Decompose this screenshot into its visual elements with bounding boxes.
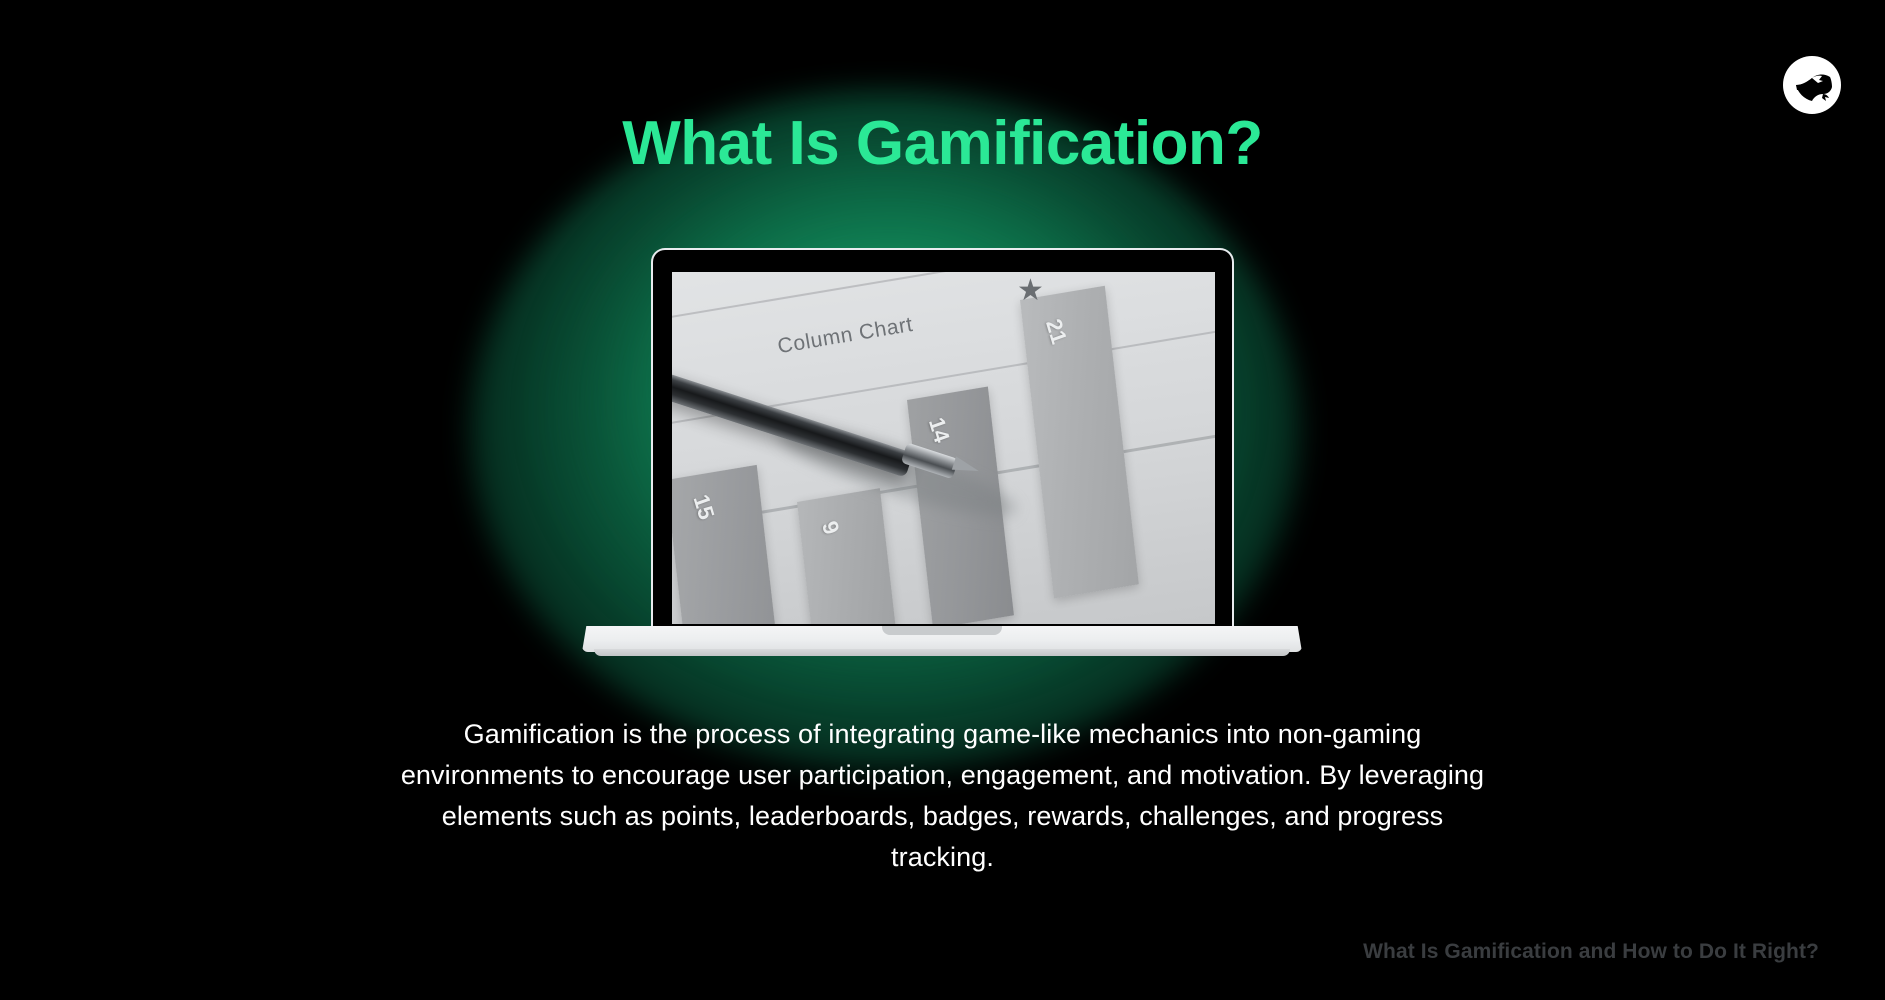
- body-paragraph: Gamification is the process of integrati…: [388, 714, 1498, 878]
- slide-canvas: What Is Gamification? 21 14: [0, 0, 1885, 1000]
- laptop-base-notch: [882, 626, 1002, 635]
- footer-caption: What Is Gamification and How to Do It Ri…: [1363, 940, 1819, 964]
- star-icon: ★: [1017, 276, 1044, 306]
- laptop-lid: 21 14 9 15 ★ Column Chart: [651, 248, 1234, 628]
- photo-bar-21-label: 21: [1040, 315, 1072, 347]
- brand-logo-mark-icon: [1790, 63, 1834, 107]
- page-title: What Is Gamification?: [0, 111, 1885, 176]
- photo-bar-15-label: 15: [688, 491, 720, 523]
- laptop-mockup: 21 14 9 15 ★ Column Chart: [582, 248, 1302, 668]
- laptop-base-lip: [594, 649, 1290, 656]
- screen-photo: 21 14 9 15 ★ Column Chart: [672, 272, 1215, 624]
- photo-bar-9: 9: [797, 488, 896, 624]
- brand-logo[interactable]: [1783, 56, 1841, 114]
- photo-bar-14-label: 14: [923, 414, 955, 446]
- laptop-screen: 21 14 9 15 ★ Column Chart: [672, 272, 1215, 624]
- photo-bar-9-label: 9: [816, 518, 844, 538]
